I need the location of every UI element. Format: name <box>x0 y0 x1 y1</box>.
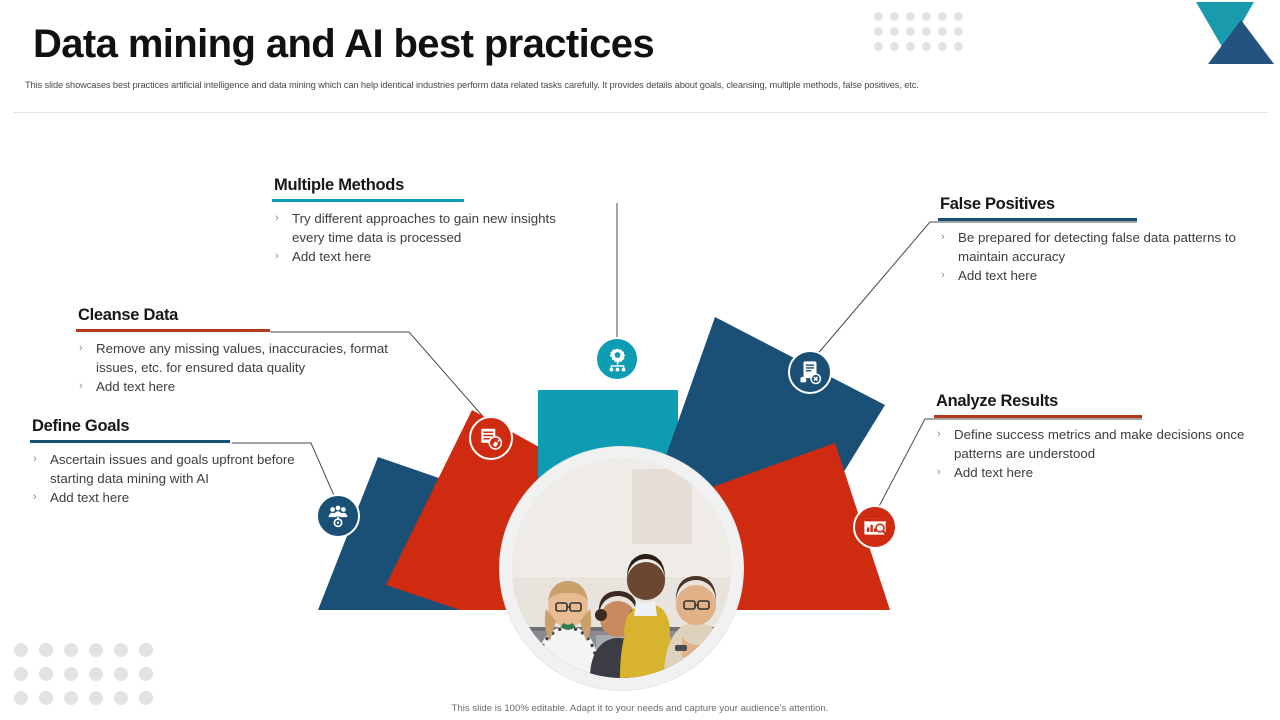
list-item: ›Add text here <box>76 377 416 396</box>
list-item-text: Add text here <box>50 490 129 505</box>
list-item: ›Try different approaches to gain new in… <box>272 209 572 247</box>
info-block-cleanse-data[interactable]: Cleanse Data ›Remove any missing values,… <box>76 306 416 396</box>
rule-define-goals <box>30 440 230 443</box>
bullet-list-false-positives: ›Be prepared for detecting false data pa… <box>938 228 1238 285</box>
list-item-text: Add text here <box>292 249 371 264</box>
list-item-text: Ascertain issues and goals upfront befor… <box>50 452 295 486</box>
chevron-right-icon: › <box>79 339 83 358</box>
rule-multiple-methods <box>272 199 464 202</box>
bullet-list-define-goals: ›Ascertain issues and goals upfront befo… <box>30 450 330 507</box>
heading-cleanse-data: Cleanse Data <box>76 306 416 325</box>
bullet-list-multiple-methods: ›Try different approaches to gain new in… <box>272 209 572 266</box>
document-error-icon[interactable] <box>788 350 832 394</box>
document-error-glyph <box>797 359 823 385</box>
chart-search-icon[interactable] <box>853 505 897 549</box>
list-item: ›Remove any missing values, inaccuracies… <box>76 339 416 377</box>
list-item-text: Remove any missing values, inaccuracies,… <box>96 341 388 375</box>
heading-false-positives: False Positives <box>938 195 1238 214</box>
chevron-right-icon: › <box>275 247 279 266</box>
rule-false-positives <box>938 218 1137 221</box>
list-item: ›Ascertain issues and goals upfront befo… <box>30 450 330 488</box>
list-item: ›Add text here <box>934 463 1254 482</box>
list-item: ›Add text here <box>30 488 330 507</box>
center-photo-ring <box>500 447 743 690</box>
footer-note: This slide is 100% editable. Adapt it to… <box>0 703 1280 714</box>
list-item-text: Add text here <box>958 268 1037 283</box>
chart-search-glyph <box>862 514 888 540</box>
team-collaborating-photo <box>512 459 731 678</box>
list-item-text: Define success metrics and make decision… <box>954 427 1244 461</box>
chevron-right-icon: › <box>937 425 941 444</box>
document-clean-glyph <box>478 425 504 451</box>
heading-analyze-results: Analyze Results <box>934 392 1254 411</box>
gear-network-glyph <box>604 346 631 373</box>
chevron-right-icon: › <box>941 266 945 285</box>
info-block-define-goals[interactable]: Define Goals ›Ascertain issues and goals… <box>30 417 330 507</box>
info-block-analyze-results[interactable]: Analyze Results ›Define success metrics … <box>934 392 1254 482</box>
document-clean-icon[interactable] <box>469 416 513 460</box>
bullet-list-analyze-results: ›Define success metrics and make decisio… <box>934 425 1254 482</box>
info-block-false-positives[interactable]: False Positives ›Be prepared for detecti… <box>938 195 1238 285</box>
chevron-right-icon: › <box>941 228 945 247</box>
list-item: ›Add text here <box>938 266 1238 285</box>
list-item: ›Add text here <box>272 247 572 266</box>
chevron-right-icon: › <box>33 450 37 469</box>
bullet-list-cleanse-data: ›Remove any missing values, inaccuracies… <box>76 339 416 396</box>
info-block-multiple-methods[interactable]: Multiple Methods ›Try different approach… <box>272 176 572 266</box>
rule-cleanse-data <box>76 329 270 332</box>
center-photo <box>512 459 731 678</box>
list-item-text: Add text here <box>954 465 1033 480</box>
chevron-right-icon: › <box>275 209 279 228</box>
chevron-right-icon: › <box>937 463 941 482</box>
list-item-text: Be prepared for detecting false data pat… <box>958 230 1236 264</box>
rule-analyze-results <box>934 415 1142 418</box>
heading-multiple-methods: Multiple Methods <box>272 176 572 195</box>
chevron-right-icon: › <box>33 488 37 507</box>
list-item-text: Add text here <box>96 379 175 394</box>
list-item-text: Try different approaches to gain new ins… <box>292 211 556 245</box>
heading-define-goals: Define Goals <box>30 417 330 436</box>
chevron-right-icon: › <box>79 377 83 396</box>
gear-network-icon[interactable] <box>595 337 639 381</box>
list-item: ›Be prepared for detecting false data pa… <box>938 228 1238 266</box>
list-item: ›Define success metrics and make decisio… <box>934 425 1254 463</box>
